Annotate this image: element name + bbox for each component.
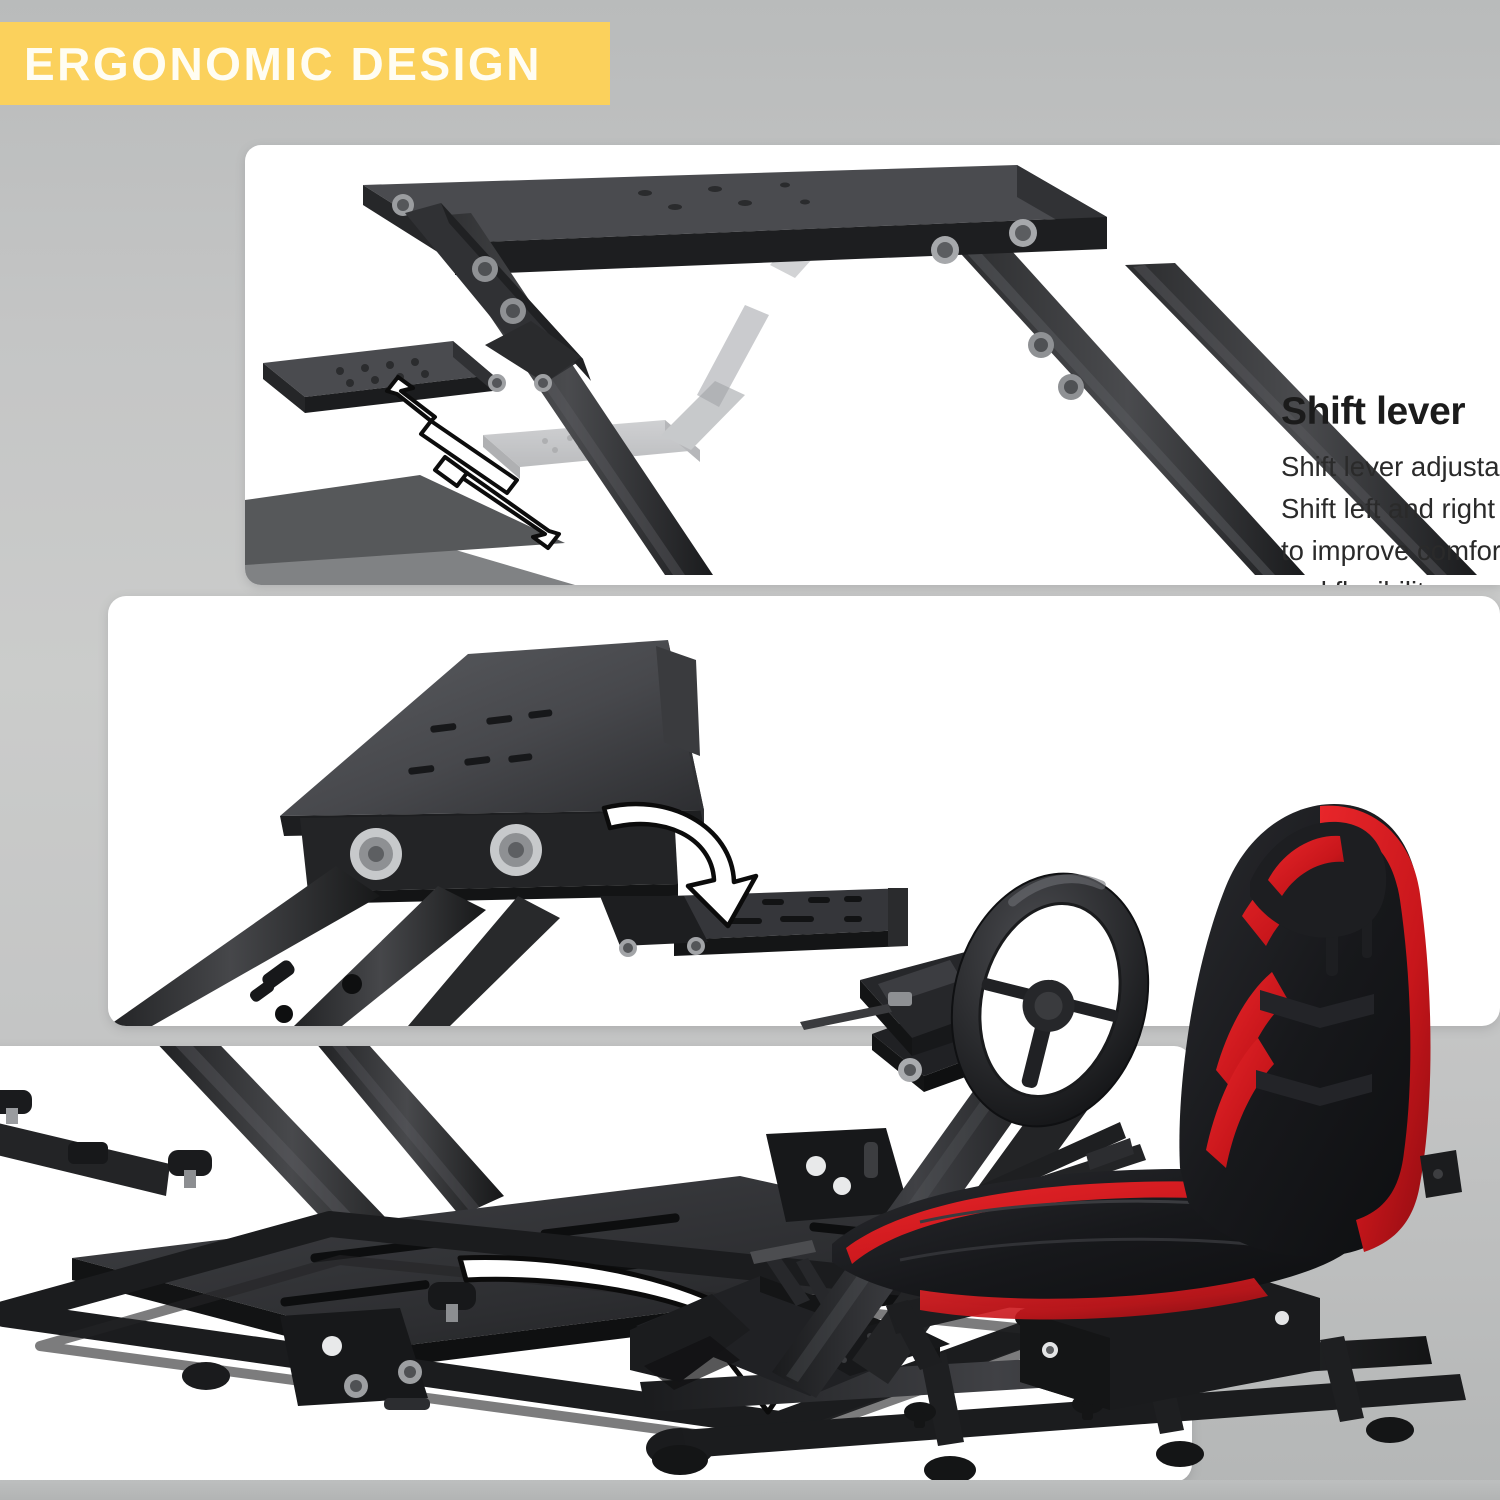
steering-wheel-platform-illustration <box>108 596 1500 1026</box>
bottom-edge-strip <box>0 1480 1500 1500</box>
shift-lever-text-block: Shift lever Shift lever adjustableShift … <box>1281 392 1500 585</box>
shift-lever-body: Shift lever adjustableShift left and rig… <box>1281 446 1500 585</box>
shift-lever-heading: Shift lever <box>1281 392 1500 433</box>
feature-panel-adjustable-pedal: Adjustable pedal The pedals can bebe adj… <box>0 1046 1192 1482</box>
ergonomic-design-banner: ERGONOMIC DESIGN <box>0 22 610 105</box>
banner-label: ERGONOMIC DESIGN <box>0 41 542 87</box>
feature-panel-shift-lever: Shift lever Shift lever adjustableShift … <box>245 145 1500 585</box>
adjustable-pedal-illustration <box>0 1046 1192 1482</box>
feature-panel-steering-wheel-platform: Steering wheel platform The steering whe… <box>108 596 1500 1026</box>
